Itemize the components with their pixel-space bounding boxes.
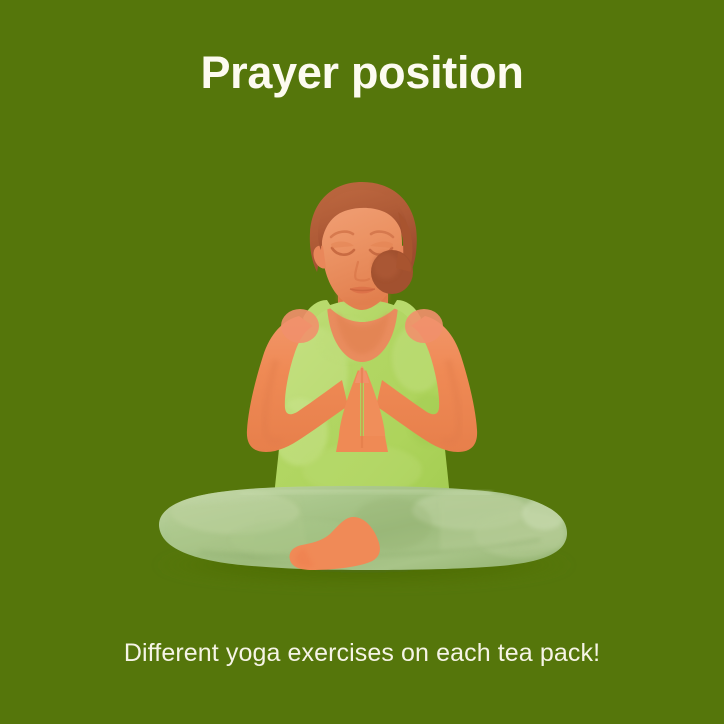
- illustration-svg: [0, 0, 724, 724]
- poster-canvas: Prayer position Different yoga exercises…: [0, 0, 724, 724]
- yoga-illustration: [0, 0, 724, 724]
- caption-text: Different yoga exercises on each tea pac…: [0, 639, 724, 668]
- page-title: Prayer position: [0, 48, 724, 98]
